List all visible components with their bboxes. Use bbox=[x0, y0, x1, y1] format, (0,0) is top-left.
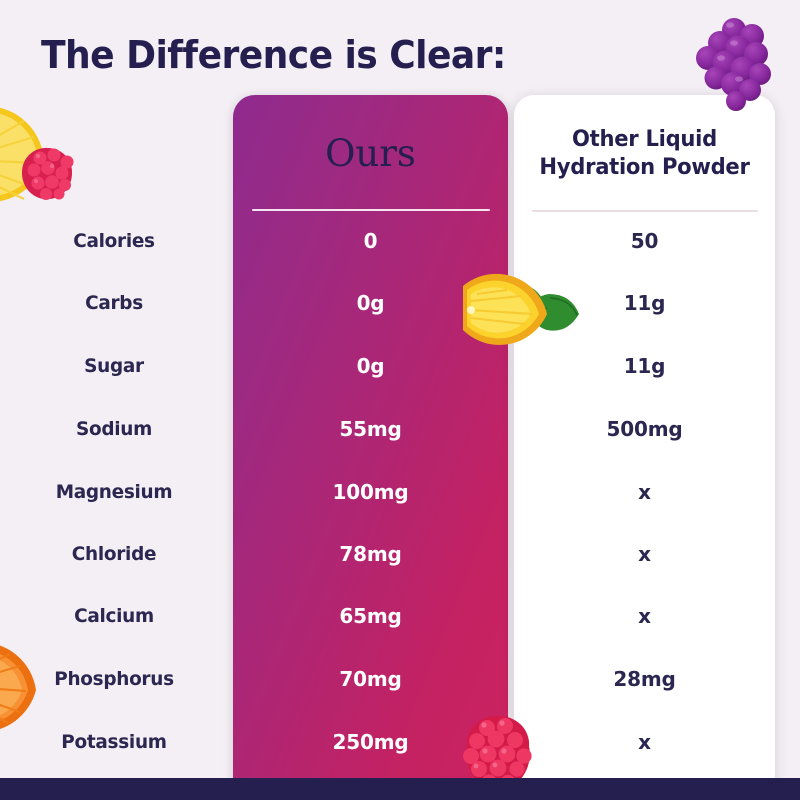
row-label: Carbs bbox=[11, 288, 217, 318]
infographic-canvas: The Difference is Clear: Ours Other Liqu… bbox=[0, 0, 800, 800]
footer-bar bbox=[0, 778, 800, 800]
row-other-value: x bbox=[514, 477, 775, 507]
table-row: Potassium 250mg x bbox=[0, 727, 800, 757]
ours-header-divider bbox=[252, 209, 490, 211]
row-label: Potassium bbox=[11, 727, 217, 757]
ours-column-header: Ours bbox=[233, 134, 508, 175]
row-label: Magnesium bbox=[11, 477, 217, 507]
other-column-header-line2: Hydration Powder bbox=[519, 154, 770, 182]
table-row: Chloride 78mg x bbox=[0, 539, 800, 569]
row-label: Calories bbox=[11, 226, 217, 256]
row-ours-value: 55mg bbox=[233, 414, 508, 444]
row-other-value: x bbox=[514, 601, 775, 631]
row-ours-value: 70mg bbox=[233, 664, 508, 694]
row-label: Chloride bbox=[11, 539, 217, 569]
row-other-value: x bbox=[514, 727, 775, 757]
other-header-divider bbox=[532, 210, 758, 212]
row-label: Phosphorus bbox=[11, 664, 217, 694]
table-row: Sodium 55mg 500mg bbox=[0, 414, 800, 444]
other-column-header: Other Liquid Hydration Powder bbox=[519, 126, 770, 182]
row-ours-value: 78mg bbox=[233, 539, 508, 569]
table-row: Calcium 65mg x bbox=[0, 601, 800, 631]
table-row: Sugar 0g 11g bbox=[0, 351, 800, 381]
table-row: Carbs 0g 11g bbox=[0, 288, 800, 318]
other-column-header-line1: Other Liquid bbox=[519, 126, 770, 154]
table-row: Magnesium 100mg x bbox=[0, 477, 800, 507]
table-row: Calories 0 50 bbox=[0, 226, 800, 256]
row-other-value: x bbox=[514, 539, 775, 569]
row-other-value: 500mg bbox=[514, 414, 775, 444]
row-label: Sugar bbox=[11, 351, 217, 381]
row-ours-value: 0g bbox=[233, 351, 508, 381]
row-ours-value: 250mg bbox=[233, 727, 508, 757]
page-title: The Difference is Clear: bbox=[41, 33, 506, 77]
row-ours-value: 65mg bbox=[233, 601, 508, 631]
table-row: Phosphorus 70mg 28mg bbox=[0, 664, 800, 694]
row-ours-value: 0 bbox=[233, 226, 508, 256]
row-other-value: 28mg bbox=[514, 664, 775, 694]
row-other-value: 11g bbox=[514, 288, 775, 318]
row-label: Sodium bbox=[11, 414, 217, 444]
row-ours-value: 0g bbox=[233, 288, 508, 318]
lemon-slice-raspberry-icon bbox=[0, 104, 94, 204]
row-label: Calcium bbox=[11, 601, 217, 631]
row-other-value: 50 bbox=[514, 226, 775, 256]
row-ours-value: 100mg bbox=[233, 477, 508, 507]
row-other-value: 11g bbox=[514, 351, 775, 381]
